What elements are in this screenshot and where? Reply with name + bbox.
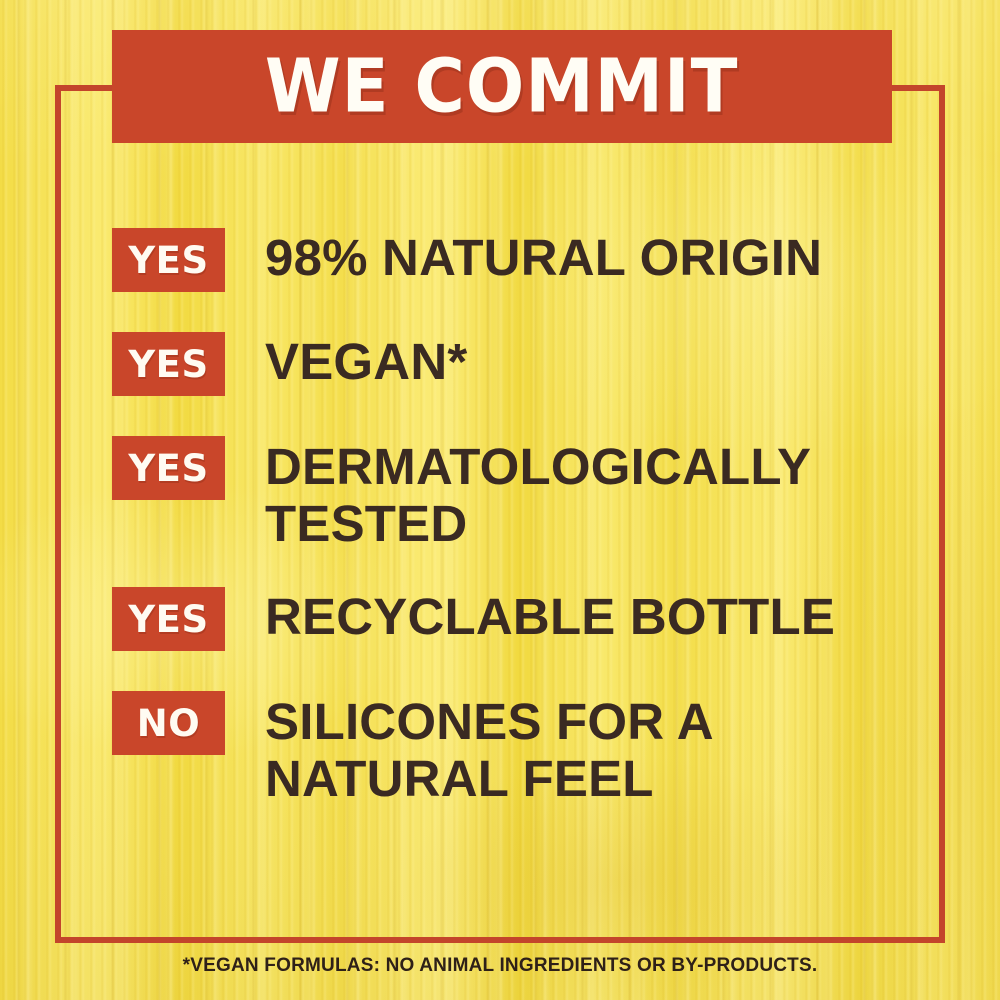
list-item: YES RECYCLABLE BOTTLE — [112, 587, 912, 651]
footnote-text: *VEGAN FORMULAS: NO ANIMAL INGREDIENTS O… — [0, 955, 1000, 977]
status-badge: YES — [112, 228, 225, 292]
list-item-label: DERMATOLOGICALLY TESTED — [265, 436, 811, 552]
list-item: YES VEGAN* — [112, 332, 912, 396]
list-item-label: SILICONES FOR A NATURAL FEEL — [265, 691, 714, 807]
page-title: WE COMMIT — [265, 50, 739, 124]
header-banner: WE COMMIT — [112, 30, 892, 143]
status-badge: YES — [112, 332, 225, 396]
status-badge: YES — [112, 436, 225, 500]
commitments-list: YES 98% NATURAL ORIGIN YES VEGAN* YES DE… — [112, 228, 912, 807]
list-item: YES DERMATOLOGICALLY TESTED — [112, 436, 912, 552]
status-badge: NO — [112, 691, 225, 755]
list-item-label: RECYCLABLE BOTTLE — [265, 587, 835, 645]
status-badge: YES — [112, 587, 225, 651]
list-item: YES 98% NATURAL ORIGIN — [112, 228, 912, 292]
list-item: NO SILICONES FOR A NATURAL FEEL — [112, 691, 912, 807]
list-item-label: 98% NATURAL ORIGIN — [265, 228, 822, 286]
commitment-poster: WE COMMIT YES 98% NATURAL ORIGIN YES VEG… — [0, 0, 1000, 1000]
list-item-label: VEGAN* — [265, 332, 467, 390]
